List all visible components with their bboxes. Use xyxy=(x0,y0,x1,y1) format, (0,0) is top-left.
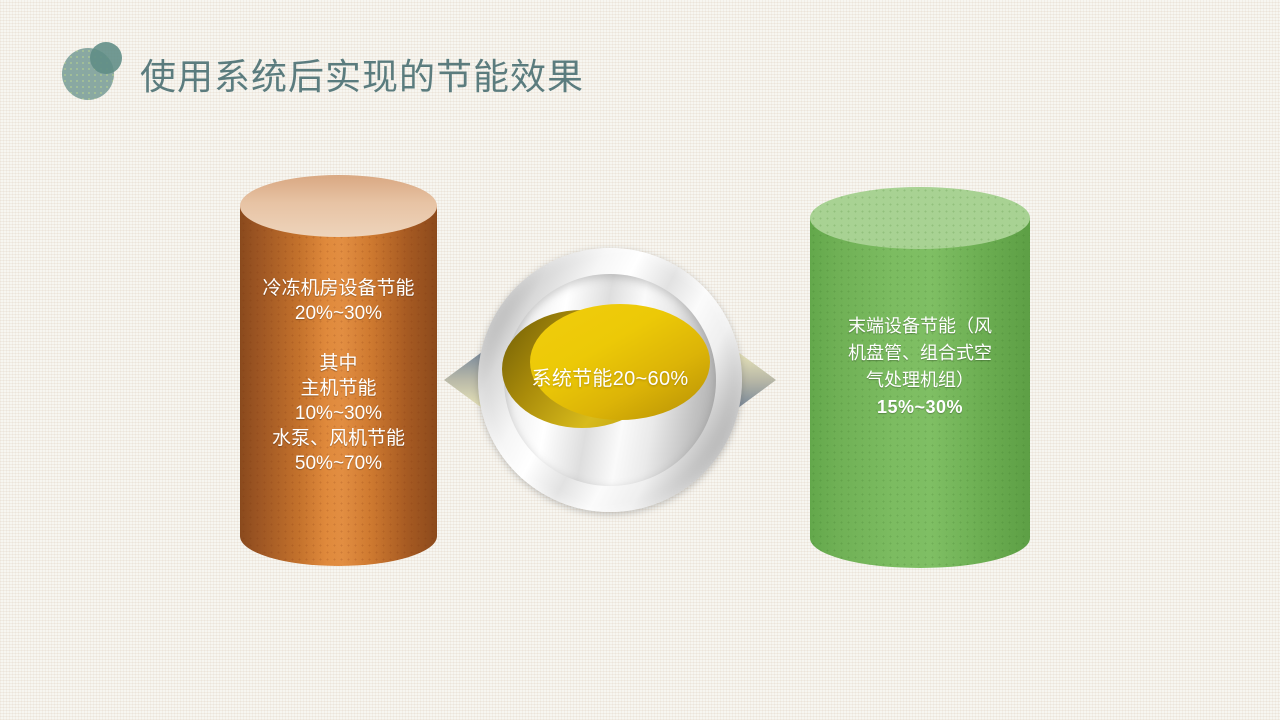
center-badge-label: 系统节能20~60% xyxy=(478,362,742,391)
right-cylinder-line-1: 末端设备节能（风 xyxy=(814,313,1026,340)
right-cylinder-line-3: 气处理机组） xyxy=(814,367,1026,394)
right-cylinder-line-2: 机盘管、组合式空 xyxy=(814,340,1026,367)
left-cylinder-top-ellipse xyxy=(240,175,437,237)
arrow-right-icon xyxy=(738,352,776,408)
left-cylinder-line-5: 10%~30% xyxy=(244,401,433,426)
right-cylinder-top-ellipse xyxy=(810,187,1030,249)
right-cylinder: 末端设备节能（风 机盘管、组合式空 气处理机组） 15%~30% xyxy=(810,218,1030,568)
page-title: 使用系统后实现的节能效果 xyxy=(140,42,584,112)
left-cylinder-line-2: 20%~30% xyxy=(244,301,433,326)
left-cylinder-text: 冷冻机房设备节能 20%~30% 其中 主机节能 10%~30% 水泵、风机节能… xyxy=(244,276,433,476)
left-cylinder-line-6: 水泵、风机节能 xyxy=(244,426,433,451)
slide-canvas: 使用系统后实现的节能效果 冷冻机房设备节能 20%~30% 其中 主机节能 10… xyxy=(0,0,1280,720)
left-cylinder-spacer xyxy=(244,326,433,351)
center-badge: 系统节能20~60% xyxy=(478,248,742,512)
right-cylinder-line-4: 15%~30% xyxy=(814,394,1026,421)
slide-header: 使用系统后实现的节能效果 xyxy=(62,42,962,112)
left-cylinder-line-1: 冷冻机房设备节能 xyxy=(244,276,433,301)
right-cylinder-text: 末端设备节能（风 机盘管、组合式空 气处理机组） 15%~30% xyxy=(814,313,1026,421)
arrow-left-icon xyxy=(444,352,482,408)
left-cylinder-line-7: 50%~70% xyxy=(244,451,433,476)
decorative-circle-small-icon xyxy=(90,42,122,74)
left-cylinder-line-3: 其中 xyxy=(244,351,433,376)
left-cylinder-line-4: 主机节能 xyxy=(244,376,433,401)
left-cylinder: 冷冻机房设备节能 20%~30% 其中 主机节能 10%~30% 水泵、风机节能… xyxy=(240,206,437,566)
